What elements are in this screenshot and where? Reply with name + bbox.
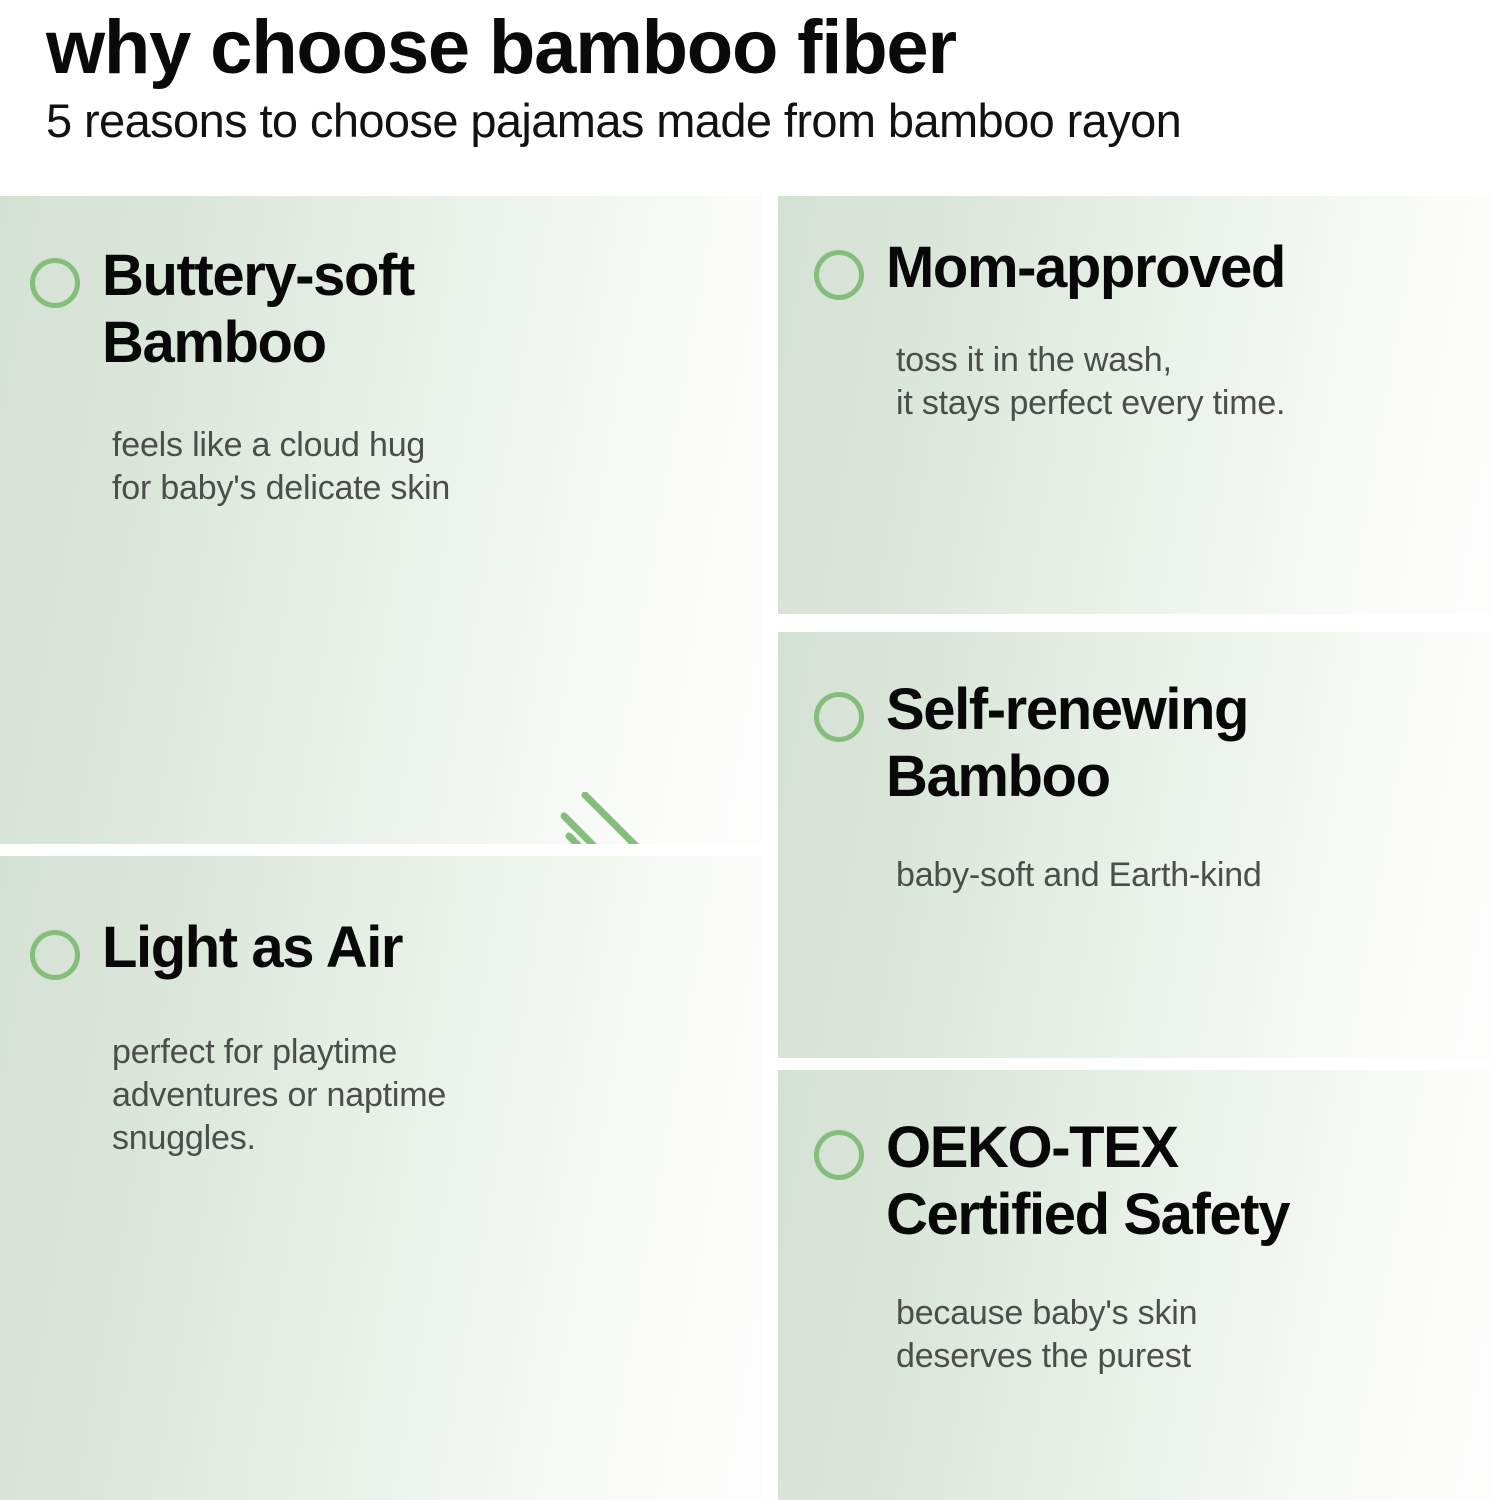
circle-bullet-icon xyxy=(30,258,80,308)
card-title: Light as Air xyxy=(102,914,402,981)
card-description: baby-soft and Earth-kind xyxy=(778,810,1491,897)
card-title: OEKO-TEX Certified Safety xyxy=(886,1114,1289,1248)
infographic-page: why choose bamboo fiber 5 reasons to cho… xyxy=(0,0,1491,1500)
card-description: because baby's skin deserves the purest xyxy=(778,1248,1491,1378)
card-description: toss it in the wash, it stays perfect ev… xyxy=(778,301,1491,425)
card-title: Mom-approved xyxy=(886,234,1285,301)
card-description: perfect for playtime adventures or napti… xyxy=(0,981,762,1160)
feature-card-light-as-air: Light as Air perfect for playtime advent… xyxy=(0,856,762,1500)
feature-card-buttery-soft-bamboo: Buttery-soft Bamboo feels like a cloud h… xyxy=(0,196,762,844)
feature-card-self-renewing-bamboo: Self-renewing Bamboo baby-soft and Earth… xyxy=(778,632,1491,1058)
page-subtitle: 5 reasons to choose pajamas made from ba… xyxy=(46,90,1491,152)
feature-card-mom-approved: Mom-approved toss it in the wash, it sta… xyxy=(778,196,1491,614)
card-header: Light as Air xyxy=(0,856,762,981)
card-title: Self-renewing Bamboo xyxy=(886,676,1248,810)
card-description: feels like a cloud hug for baby's delica… xyxy=(0,376,762,510)
circle-bullet-icon xyxy=(814,692,864,742)
hand-touch-icon xyxy=(498,792,730,844)
card-title: Buttery-soft Bamboo xyxy=(102,242,414,376)
page-header: why choose bamboo fiber 5 reasons to cho… xyxy=(0,0,1491,190)
circle-bullet-icon xyxy=(30,930,80,980)
card-header: OEKO-TEX Certified Safety xyxy=(778,1070,1491,1248)
page-title: why choose bamboo fiber xyxy=(46,6,1491,90)
card-header: Buttery-soft Bamboo xyxy=(0,196,762,376)
card-header: Self-renewing Bamboo xyxy=(778,632,1491,810)
circle-bullet-icon xyxy=(814,250,864,300)
circle-bullet-icon xyxy=(814,1130,864,1180)
feature-card-oeko-tex-certified-safety: OEKO-TEX Certified Safety because baby's… xyxy=(778,1070,1491,1500)
card-header: Mom-approved xyxy=(778,196,1491,301)
